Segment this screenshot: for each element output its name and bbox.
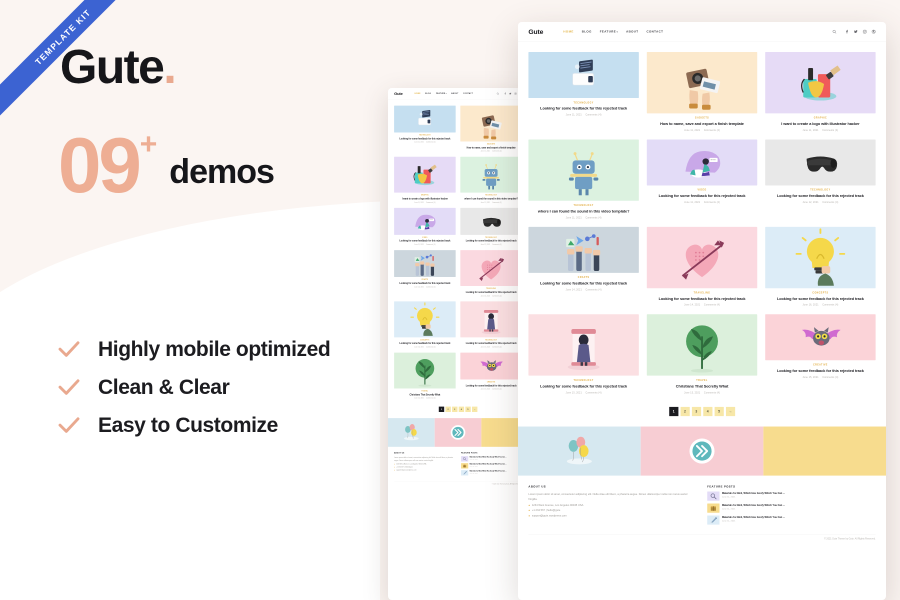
bullet-icon: ● bbox=[394, 463, 395, 465]
post-card[interactable]: TRAVELChristians That Secretly WhatJune … bbox=[647, 314, 757, 393]
footer-about-text: Lorem ipsum dolor sit amet, consectetur … bbox=[528, 491, 696, 501]
post-meta: June 15, 2021Comments (4) bbox=[461, 346, 520, 348]
site-logo[interactable]: Gute bbox=[394, 91, 403, 96]
footer-contact-text: 1234 West Avenue, Los Angeles 90045 USA bbox=[532, 503, 584, 506]
post-category[interactable]: TRAVELING bbox=[461, 288, 520, 290]
bullet-icon: ● bbox=[528, 503, 530, 506]
post-body: TRAVELINGLooking for some feedback for t… bbox=[460, 286, 522, 297]
nav-item-label: CONTACT bbox=[646, 30, 663, 33]
instagram-icon[interactable] bbox=[863, 30, 867, 34]
footer-post-title[interactable]: Materials for Bird, Which Has Goofy Whic… bbox=[722, 503, 785, 507]
post-title[interactable]: Looking for some feedback for this rejec… bbox=[649, 193, 756, 199]
feature-item: Clean & Clear bbox=[58, 376, 330, 400]
post-body: VIDEOLooking for some feedback for this … bbox=[394, 235, 456, 246]
post-thumbnail[interactable] bbox=[394, 353, 456, 389]
post-title[interactable]: How to name, save and export a finish te… bbox=[461, 146, 520, 149]
nav-item-home[interactable]: HOME bbox=[563, 30, 573, 33]
nav-item-label: HOME bbox=[563, 30, 573, 33]
post-meta: June 11, 2021Comments (4) bbox=[530, 216, 637, 219]
nav-item-label: ABOUT bbox=[451, 93, 458, 95]
nav-item-blog[interactable]: BLOG bbox=[425, 93, 431, 95]
post-meta: June 11, 2021Comments (4) bbox=[395, 142, 454, 144]
nav-item-label: ABOUT bbox=[626, 30, 638, 33]
footer-post-thumbnail bbox=[707, 491, 719, 500]
post-card[interactable]: VIDEOLooking for some feedback for this … bbox=[647, 140, 757, 204]
post-category[interactable]: CONCEPTS bbox=[395, 339, 454, 341]
post-grid: TECHNOLOGYLooking for some feedback for … bbox=[388, 99, 528, 403]
post-card[interactable]: TRAVELINGLooking for some feedback for t… bbox=[647, 227, 757, 306]
post-meta: June 14, 2021Comments (4) bbox=[461, 295, 520, 297]
post-thumbnail[interactable] bbox=[528, 227, 638, 273]
twitter-icon[interactable] bbox=[509, 92, 511, 94]
post-title[interactable]: Looking for some feedback for this rejec… bbox=[461, 291, 520, 294]
post-body: VIDEOLooking for some feedback for this … bbox=[647, 186, 757, 204]
footer-post-thumbnail bbox=[461, 463, 468, 468]
post-category[interactable]: TECHNOLOGY bbox=[461, 194, 520, 196]
post-comments: Comments (4) bbox=[492, 346, 501, 348]
post-category[interactable]: CREATIVE bbox=[767, 363, 874, 366]
post-comments: Comments (4) bbox=[492, 202, 501, 204]
browser-window-primary[interactable]: GuteHOMEBLOGFEATURE▾ABOUTCONTACTTECHNOLO… bbox=[518, 22, 886, 600]
pagination-page[interactable]: → bbox=[726, 407, 735, 416]
footer-contact-text: support@gute.wordpress.com bbox=[532, 514, 567, 517]
post-thumbnail[interactable] bbox=[394, 301, 456, 337]
footer-post-item[interactable]: Materials for Bird, Which Has Goofy Whic… bbox=[461, 456, 522, 461]
post-title[interactable]: Looking for some feedback for this rejec… bbox=[530, 383, 637, 389]
post-meta: June 11, 2021Comments (4) bbox=[461, 202, 520, 204]
post-body: CREATIVELooking for some feedback for th… bbox=[765, 360, 875, 378]
feature-list: Highly mobile optimizedClean & ClearEasy… bbox=[58, 338, 330, 438]
pagination-page[interactable]: 1 bbox=[439, 407, 444, 412]
post-card[interactable]: TRAVELChristians That Secretly WhatJune … bbox=[394, 353, 456, 400]
post-body: CONCEPTSLooking for some feedback for th… bbox=[394, 337, 456, 348]
post-card[interactable]: GRAPHICI want to create a logo with illu… bbox=[765, 52, 875, 131]
post-thumbnail[interactable] bbox=[647, 52, 757, 113]
post-meta: June 15, 2021Comments (4) bbox=[767, 376, 874, 379]
post-meta: June 16, 2021Comments (4) bbox=[395, 346, 454, 348]
post-body: TRAVELINGLooking for some feedback for t… bbox=[647, 288, 757, 306]
nav-item-about[interactable]: ABOUT bbox=[626, 30, 638, 33]
post-thumbnail[interactable] bbox=[460, 353, 522, 380]
facebook-icon[interactable] bbox=[504, 92, 506, 94]
nav-item-label: CONTACT bbox=[463, 93, 473, 95]
pagination: 12345→ bbox=[388, 404, 528, 418]
site-header: GuteHOMEBLOGFEATURE▾ABOUTCONTACT bbox=[388, 88, 528, 99]
footer-copyright: © 2021 Gute Theme by Gute. All Rights Re… bbox=[528, 534, 875, 543]
post-body: TRAVELChristians That Secretly WhatJune … bbox=[647, 376, 757, 394]
footer-about-heading: ABOUT US bbox=[528, 485, 696, 488]
post-thumbnail[interactable] bbox=[647, 227, 757, 288]
check-icon bbox=[58, 417, 80, 435]
search-icon[interactable] bbox=[497, 92, 499, 94]
post-date: June 15, 2021 bbox=[481, 346, 490, 348]
post-title[interactable]: I want to create a logo with illustrator… bbox=[767, 121, 874, 127]
post-thumbnail[interactable] bbox=[460, 250, 522, 286]
post-meta: June 15, 2021Comments (4) bbox=[649, 391, 756, 394]
footer-about-text: Lorem ipsum dolor sit amet, consectetur … bbox=[394, 456, 455, 462]
post-card[interactable]: GADGETSHow to name, save and export a fi… bbox=[647, 52, 757, 131]
promo-cell[interactable] bbox=[388, 418, 435, 447]
post-thumbnail[interactable] bbox=[765, 227, 875, 288]
post-title[interactable]: Looking for some feedback for this rejec… bbox=[395, 239, 454, 242]
footer-posts: FEATURE POSTSMaterials for Bird, Which H… bbox=[461, 452, 522, 477]
post-date: June 16, 2021 bbox=[802, 304, 818, 307]
post-category[interactable]: GRAPHIC bbox=[767, 116, 874, 119]
nav-item-contact[interactable]: CONTACT bbox=[463, 93, 473, 95]
post-body: CREATIVELooking for some feedback for th… bbox=[460, 379, 522, 390]
pagination-page[interactable]: → bbox=[472, 407, 477, 412]
post-category[interactable]: TECHNOLOGY bbox=[530, 101, 637, 104]
post-title[interactable]: How to name, save and export a finish te… bbox=[649, 121, 756, 127]
pagination: 12345→ bbox=[518, 402, 886, 427]
post-date: June 11, 2021 bbox=[414, 202, 423, 204]
feature-item-label: Clean & Clear bbox=[98, 376, 229, 400]
footer-post-item[interactable]: Materials for Bird, Which Has Goofy Whic… bbox=[707, 503, 875, 512]
post-comments: Comments (4) bbox=[586, 288, 602, 291]
post-comments: Comments (4) bbox=[426, 397, 435, 399]
post-title[interactable]: Looking for some feedback for this rejec… bbox=[461, 384, 520, 387]
bullet-icon: ● bbox=[528, 514, 530, 517]
nav-item-label: FEATURE bbox=[436, 93, 446, 95]
post-comments: Comments (4) bbox=[822, 129, 838, 132]
check-icon bbox=[58, 341, 80, 359]
post-meta: June 14, 2021Comments (4) bbox=[649, 304, 756, 307]
footer-post-title[interactable]: Materials for Bird, Which Has Goofy Whic… bbox=[722, 515, 785, 519]
feature-item: Easy to Customize bbox=[58, 414, 330, 438]
demo-count-plus: + bbox=[140, 128, 155, 161]
post-meta: June 11, 2021Comments (4) bbox=[395, 202, 454, 204]
footer-post-thumbnail bbox=[461, 456, 468, 461]
post-body: TECHNOLOGYwhere I can found the sound in… bbox=[460, 193, 522, 204]
post-title[interactable]: where I can found the sound in this vide… bbox=[461, 197, 520, 200]
ribbon-label: TEMPLATE KIT bbox=[0, 0, 132, 119]
pagination-page[interactable]: 3 bbox=[452, 407, 457, 412]
post-body: GADGETSHow to name, save and export a fi… bbox=[647, 113, 757, 131]
post-comments: Comments (4) bbox=[426, 346, 435, 348]
nav-item-blog[interactable]: BLOG bbox=[582, 30, 592, 33]
post-card[interactable]: TECHNOLOGYwhere I can found the sound in… bbox=[460, 157, 522, 204]
post-category[interactable]: CRAFTS bbox=[395, 279, 454, 281]
post-card[interactable]: TECHNOLOGYLooking for some feedback for … bbox=[528, 52, 638, 116]
post-meta: June 15, 2021Comments (4) bbox=[461, 388, 520, 390]
post-category[interactable]: CONCEPTS bbox=[767, 291, 874, 294]
post-category[interactable]: GRAPHIC bbox=[395, 194, 454, 196]
post-comments: Comments (4) bbox=[704, 391, 720, 394]
post-body: TECHNOLOGYwhere I can found the sound in… bbox=[528, 201, 638, 219]
site-page: GuteHOMEBLOGFEATURE▾ABOUTCONTACTTECHNOLO… bbox=[388, 88, 528, 486]
nav-item-feature[interactable]: FEATURE▾ bbox=[436, 93, 447, 95]
post-card[interactable]: CREATIVELooking for some feedback for th… bbox=[765, 314, 875, 378]
twitter-icon[interactable] bbox=[854, 30, 858, 34]
post-title[interactable]: Looking for some feedback for this rejec… bbox=[767, 193, 874, 199]
chevron-down-icon: ▾ bbox=[617, 31, 618, 33]
pagination-page[interactable]: 2 bbox=[445, 407, 450, 412]
post-thumbnail[interactable] bbox=[394, 106, 456, 133]
footer-post-item[interactable]: Materials for Bird, Which Has Goofy Whic… bbox=[707, 515, 875, 524]
post-date: June 12, 2021 bbox=[481, 244, 490, 246]
footer-contact-text: support@gute.wordpress.com bbox=[396, 469, 416, 471]
footer-about: ABOUT USLorem ipsum dolor sit amet, cons… bbox=[528, 485, 696, 528]
footer-about: ABOUT USLorem ipsum dolor sit amet, cons… bbox=[394, 452, 455, 477]
footer-post-date: June 11, 2021 bbox=[470, 466, 507, 467]
instagram-icon[interactable] bbox=[514, 92, 516, 94]
browser-window-secondary[interactable]: GuteHOMEBLOGFEATURE▾ABOUTCONTACTTECHNOLO… bbox=[388, 88, 528, 600]
promo-strip bbox=[388, 418, 528, 447]
post-date: June 12, 2021 bbox=[802, 201, 818, 204]
post-card[interactable]: TRAVELINGLooking for some feedback for t… bbox=[460, 250, 522, 297]
post-meta: June 12, 2021Comments (4) bbox=[767, 201, 874, 204]
post-card[interactable]: TECHNOLOGYLooking for some feedback for … bbox=[765, 140, 875, 204]
post-title[interactable]: where I can found the sound in this vide… bbox=[530, 209, 637, 215]
post-title[interactable]: Looking for some feedback for this rejec… bbox=[395, 282, 454, 285]
post-title[interactable]: I want to create a logo with illustrator… bbox=[395, 197, 454, 200]
post-date: June 14, 2021 bbox=[481, 295, 490, 297]
post-card[interactable]: TECHNOLOGYLooking for some feedback for … bbox=[460, 208, 522, 246]
nav-item-label: FEATURE bbox=[600, 30, 616, 33]
post-category[interactable]: TECHNOLOGY bbox=[530, 379, 637, 382]
post-body: TRAVELChristians That Secretly WhatJune … bbox=[394, 388, 456, 399]
post-card[interactable]: TECHNOLOGYLooking for some feedback for … bbox=[460, 301, 522, 348]
post-thumbnail[interactable] bbox=[460, 157, 522, 193]
site-header-actions bbox=[832, 30, 875, 34]
footer-post-item[interactable]: Materials for Bird, Which Has Goofy Whic… bbox=[461, 463, 522, 468]
bullet-icon: ● bbox=[394, 466, 395, 468]
site-logo[interactable]: Gute bbox=[528, 28, 543, 36]
post-date: June 16, 2021 bbox=[414, 346, 423, 348]
post-comments: Comments (4) bbox=[585, 216, 601, 219]
post-comments: Comments (4) bbox=[822, 304, 838, 307]
post-date: June 15, 2021 bbox=[414, 397, 423, 399]
post-meta: June 11, 2021Comments (4) bbox=[461, 150, 520, 152]
post-card[interactable]: VIDEOLooking for some feedback for this … bbox=[394, 208, 456, 246]
post-title[interactable]: Christians That Secretly What bbox=[395, 393, 454, 396]
post-category[interactable]: VIDEO bbox=[649, 189, 756, 192]
footer-contact-item: ●support@gute.wordpress.com bbox=[528, 514, 696, 517]
pagination-page[interactable]: 5 bbox=[714, 407, 723, 416]
site-footer: ABOUT USLorem ipsum dolor sit amet, cons… bbox=[388, 447, 528, 480]
post-category[interactable]: TRAVELING bbox=[649, 291, 756, 294]
post-date: June 15, 2021 bbox=[566, 391, 582, 394]
post-body: GRAPHICI want to create a logo with illu… bbox=[765, 113, 875, 131]
search-icon[interactable] bbox=[832, 30, 836, 34]
post-category[interactable]: TRAVEL bbox=[395, 390, 454, 392]
pinterest-icon[interactable] bbox=[872, 30, 876, 34]
post-meta: June 14, 2021Comments (4) bbox=[530, 288, 637, 291]
pagination-page[interactable]: 1 bbox=[669, 407, 678, 416]
template-kit-ribbon: TEMPLATE KIT bbox=[0, 0, 132, 132]
nav-item-label: BLOG bbox=[582, 30, 592, 33]
post-date: June 11, 2021 bbox=[684, 129, 700, 132]
site-nav-menu: HOMEBLOGFEATURE▾ABOUTCONTACT bbox=[415, 93, 473, 95]
post-category[interactable]: TECHNOLOGY bbox=[395, 134, 454, 136]
post-title[interactable]: Looking for some feedback for this rejec… bbox=[395, 342, 454, 345]
footer-post-title[interactable]: Materials for Bird, Which Has Goofy Whic… bbox=[722, 491, 785, 495]
feature-item: Highly mobile optimized bbox=[58, 338, 330, 362]
post-category[interactable]: TECHNOLOGY bbox=[530, 204, 637, 207]
post-comments: Comments (4) bbox=[704, 304, 720, 307]
pagination-page[interactable]: 2 bbox=[680, 407, 689, 416]
post-title[interactable]: Looking for some feedback for this rejec… bbox=[767, 368, 874, 374]
footer-post-date: June 11, 2021 bbox=[722, 496, 785, 498]
post-category[interactable]: GADGETS bbox=[461, 143, 520, 145]
post-comments: Comments (4) bbox=[492, 388, 501, 390]
post-date: June 11, 2021 bbox=[566, 216, 582, 219]
post-comments: Comments (4) bbox=[704, 129, 720, 132]
post-card[interactable]: TECHNOLOGYLooking for some feedback for … bbox=[528, 314, 638, 393]
post-category[interactable]: TECHNOLOGY bbox=[461, 339, 520, 341]
facebook-icon[interactable] bbox=[845, 30, 849, 34]
post-card[interactable]: TECHNOLOGYLooking for some feedback for … bbox=[394, 106, 456, 144]
post-category[interactable]: CRAFTS bbox=[530, 276, 637, 279]
post-meta: June 12, 2021Comments (4) bbox=[461, 244, 520, 246]
post-category[interactable]: CREATIVE bbox=[461, 381, 520, 383]
post-comments: Comments (4) bbox=[704, 201, 720, 204]
chevron-down-icon: ▾ bbox=[446, 93, 447, 94]
nav-item-label: HOME bbox=[415, 93, 421, 95]
post-body: TECHNOLOGYLooking for some feedback for … bbox=[460, 235, 522, 246]
footer-contact-text: 1234 West Avenue, Los Angeles 90045 USA bbox=[396, 463, 426, 465]
footer-post-date: June 11, 2021 bbox=[470, 473, 507, 474]
footer-post-date: June 11, 2021 bbox=[470, 459, 507, 460]
nav-item-about[interactable]: ABOUT bbox=[451, 93, 458, 95]
post-body: TECHNOLOGYLooking for some feedback for … bbox=[528, 376, 638, 394]
demo-count-unit: demos bbox=[169, 153, 274, 192]
post-thumbnail[interactable] bbox=[460, 208, 522, 235]
post-title[interactable]: Looking for some feedback for this rejec… bbox=[530, 106, 637, 112]
post-date: June 15, 2021 bbox=[802, 376, 818, 379]
promo-cell[interactable] bbox=[641, 426, 764, 475]
footer-post-date: June 11, 2021 bbox=[722, 508, 785, 510]
check-icon bbox=[58, 379, 80, 397]
post-card[interactable]: CONCEPTSLooking for some feedback for th… bbox=[394, 301, 456, 348]
footer-post-thumbnail bbox=[707, 503, 719, 512]
post-category[interactable]: TECHNOLOGY bbox=[461, 237, 520, 239]
post-comments: Comments (4) bbox=[426, 202, 435, 204]
site-page: GuteHOMEBLOGFEATURE▾ABOUTCONTACTTECHNOLO… bbox=[518, 22, 886, 543]
post-grid: TECHNOLOGYLooking for some feedback for … bbox=[518, 42, 886, 402]
post-thumbnail[interactable] bbox=[765, 52, 875, 113]
post-body: CRAFTSLooking for some feedback for this… bbox=[528, 273, 638, 291]
post-date: June 11, 2021 bbox=[414, 244, 423, 246]
post-body: CRAFTSLooking for some feedback for this… bbox=[394, 277, 456, 288]
post-card[interactable]: CRAFTSLooking for some feedback for this… bbox=[528, 227, 638, 291]
footer-post-item[interactable]: Materials for Bird, Which Has Goofy Whic… bbox=[461, 470, 522, 475]
post-title[interactable]: Christians That Secretly What bbox=[649, 383, 756, 389]
post-title[interactable]: Looking for some feedback for this rejec… bbox=[767, 296, 874, 302]
post-meta: June 15, 2021Comments (4) bbox=[395, 397, 454, 399]
promo-cell[interactable] bbox=[518, 426, 641, 475]
demo-count-row: 09+ demos bbox=[58, 128, 274, 202]
post-title[interactable]: Looking for some feedback for this rejec… bbox=[461, 239, 520, 242]
post-meta: June 11, 2021Comments (4) bbox=[530, 113, 637, 116]
post-thumbnail[interactable] bbox=[765, 314, 875, 360]
nav-item-feature[interactable]: FEATURE▾ bbox=[600, 30, 618, 33]
site-header: GuteHOMEBLOGFEATURE▾ABOUTCONTACT bbox=[518, 22, 886, 42]
post-meta: June 14, 2021Comments (4) bbox=[395, 286, 454, 288]
post-card[interactable]: GRAPHICI want to create a logo with illu… bbox=[394, 157, 456, 204]
pagination-page[interactable]: 4 bbox=[459, 407, 464, 412]
post-card[interactable]: CRAFTSLooking for some feedback for this… bbox=[394, 250, 456, 288]
post-thumbnail[interactable] bbox=[765, 140, 875, 186]
post-thumbnail[interactable] bbox=[647, 314, 757, 375]
nav-item-contact[interactable]: CONTACT bbox=[646, 30, 663, 33]
post-thumbnail[interactable] bbox=[528, 140, 638, 201]
post-date: June 15, 2021 bbox=[684, 391, 700, 394]
post-comments: Comments (4) bbox=[426, 244, 435, 246]
post-date: June 14, 2021 bbox=[414, 286, 423, 288]
post-category[interactable]: VIDEO bbox=[395, 237, 454, 239]
post-body: CONCEPTSLooking for some feedback for th… bbox=[765, 288, 875, 306]
demo-count-value: 09 bbox=[58, 121, 139, 209]
footer-contact-item: ●+1 234 567 | hello@gute bbox=[528, 509, 696, 512]
post-comments: Comments (4) bbox=[585, 113, 601, 116]
post-thumbnail[interactable] bbox=[460, 301, 522, 337]
site-nav-menu: HOMEBLOGFEATURE▾ABOUTCONTACT bbox=[563, 30, 663, 33]
post-thumbnail[interactable] bbox=[528, 52, 638, 98]
post-title[interactable]: Looking for some feedback for this rejec… bbox=[530, 281, 637, 287]
nav-item-label: BLOG bbox=[425, 93, 431, 95]
post-title[interactable]: Looking for some feedback for this rejec… bbox=[649, 296, 756, 302]
post-thumbnail[interactable] bbox=[394, 157, 456, 193]
post-card[interactable]: CREATIVELooking for some feedback for th… bbox=[460, 353, 522, 391]
pagination-page[interactable]: 5 bbox=[465, 407, 470, 412]
post-body: GADGETSHow to name, save and export a fi… bbox=[460, 141, 522, 152]
pagination-page[interactable]: 3 bbox=[692, 407, 701, 416]
post-meta: June 11, 2021Comments (4) bbox=[649, 201, 756, 204]
pagination-page[interactable]: 4 bbox=[703, 407, 712, 416]
promo-cell[interactable] bbox=[435, 418, 482, 447]
post-date: June 11, 2021 bbox=[481, 150, 490, 152]
footer-contact-item: ●support@gute.wordpress.com bbox=[394, 469, 455, 471]
post-card[interactable]: GADGETSHow to name, save and export a fi… bbox=[460, 106, 522, 153]
post-category[interactable]: TRAVEL bbox=[649, 379, 756, 382]
footer-posts-heading: FEATURE POSTS bbox=[707, 485, 875, 488]
post-meta: June 11, 2021Comments (4) bbox=[767, 129, 874, 132]
post-meta: June 15, 2021Comments (4) bbox=[530, 391, 637, 394]
post-date: June 14, 2021 bbox=[684, 304, 700, 307]
bullet-icon: ● bbox=[394, 469, 395, 471]
post-title[interactable]: Looking for some feedback for this rejec… bbox=[395, 137, 454, 140]
post-category[interactable]: GADGETS bbox=[649, 116, 756, 119]
post-thumbnail[interactable] bbox=[647, 140, 757, 186]
post-comments: Comments (4) bbox=[822, 201, 838, 204]
footer-contact-item: ●1234 West Avenue, Los Angeles 90045 USA bbox=[394, 463, 455, 465]
nav-item-home[interactable]: HOME bbox=[415, 93, 421, 95]
post-date: June 11, 2021 bbox=[414, 142, 423, 144]
post-body: TECHNOLOGYLooking for some feedback for … bbox=[528, 98, 638, 116]
footer-contact-item: ●1234 West Avenue, Los Angeles 90045 USA bbox=[528, 503, 696, 506]
screenshot-stage: TEMPLATE KIT Gute. 09+ demos Highly mobi… bbox=[0, 0, 900, 600]
post-title[interactable]: Looking for some feedback for this rejec… bbox=[461, 342, 520, 345]
footer-post-date: June 11, 2021 bbox=[722, 520, 785, 522]
post-comments: Comments (4) bbox=[822, 376, 838, 379]
post-meta: June 16, 2021Comments (4) bbox=[767, 304, 874, 307]
post-card[interactable]: TECHNOLOGYwhere I can found the sound in… bbox=[528, 140, 638, 219]
footer-post-item[interactable]: Materials for Bird, Which Has Goofy Whic… bbox=[707, 491, 875, 500]
post-category[interactable]: TECHNOLOGY bbox=[767, 189, 874, 192]
post-thumbnail[interactable] bbox=[394, 250, 456, 277]
post-comments: Comments (4) bbox=[492, 295, 501, 297]
promo-cell[interactable] bbox=[763, 426, 886, 475]
feature-item-label: Highly mobile optimized bbox=[98, 338, 330, 362]
post-card[interactable]: CONCEPTSLooking for some feedback for th… bbox=[765, 227, 875, 306]
post-thumbnail[interactable] bbox=[460, 106, 522, 142]
post-thumbnail[interactable] bbox=[528, 314, 638, 375]
brand-dot: . bbox=[163, 41, 175, 94]
post-thumbnail[interactable] bbox=[394, 208, 456, 235]
post-comments: Comments (4) bbox=[426, 286, 435, 288]
site-preview-primary: GuteHOMEBLOGFEATURE▾ABOUTCONTACTTECHNOLO… bbox=[518, 22, 886, 543]
